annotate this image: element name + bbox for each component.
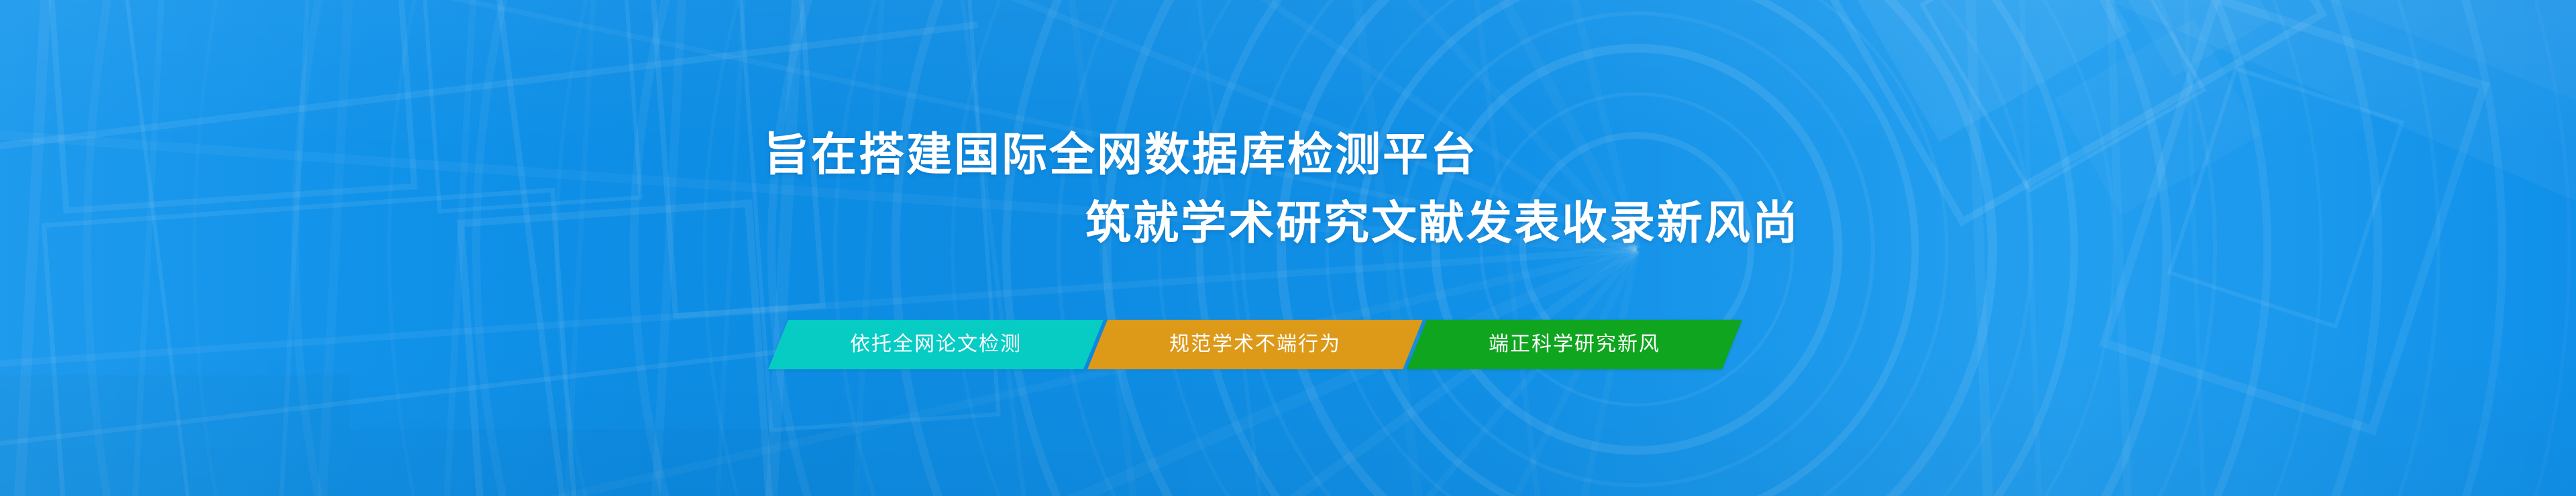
headline-line-1: 旨在搭建国际全网数据库检测平台 [763,133,1478,178]
feature-badge-label: 端正科学研究新风 [1489,334,1660,355]
feature-badge-label: 规范学术不端行为 [1169,334,1341,355]
headline-line-2: 筑就学术研究文献发表收录新风尚 [1085,201,1800,247]
headline-block: 旨在搭建国际全网数据库检测平台 筑就学术研究文献发表收录新风尚 [0,0,2576,496]
promo-banner: 旨在搭建国际全网数据库检测平台 筑就学术研究文献发表收录新风尚 依托全网论文检测… [0,0,2576,496]
feature-badge-detection[interactable]: 依托全网论文检测 [768,320,1104,369]
feature-badge-misconduct[interactable]: 规范学术不端行为 [1087,320,1423,369]
feature-badge-integrity[interactable]: 端正科学研究新风 [1407,320,1742,369]
feature-badge-label: 依托全网论文检测 [850,334,1022,355]
feature-badge-strip: 依托全网论文检测 规范学术不端行为 端正科学研究新风 [768,320,1742,369]
